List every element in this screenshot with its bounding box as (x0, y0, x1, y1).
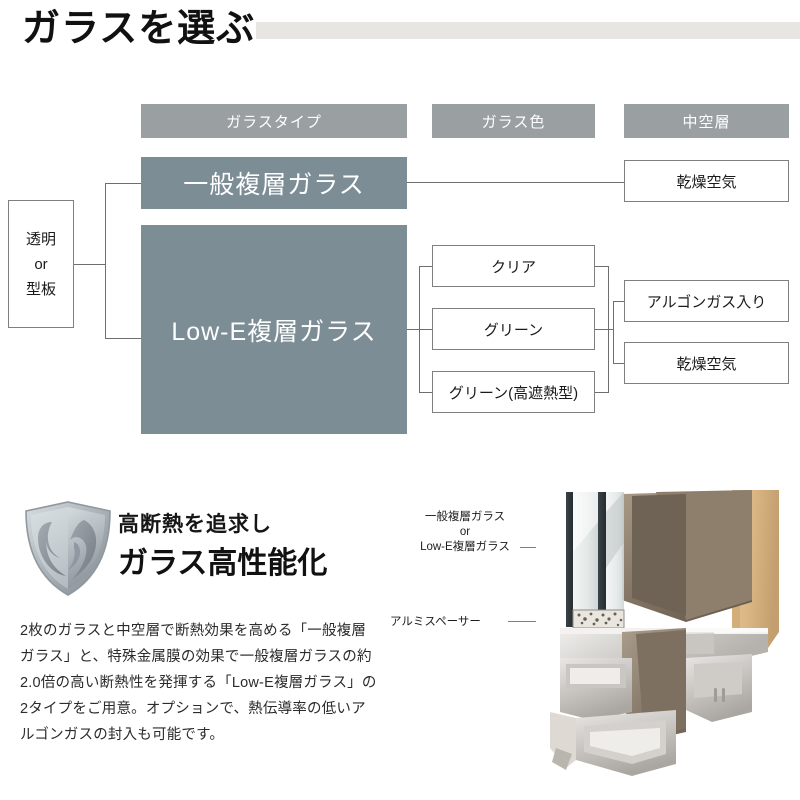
page-header: ガラスを選ぶ (0, 0, 800, 70)
column-header-glass-color: ガラス色 (432, 104, 595, 138)
root-label-line-3: 型板 (26, 277, 56, 302)
node-standard-double-glazing: 一般複層ガラス (141, 157, 407, 209)
callout-glass-line-1: 一般複層ガラス (390, 510, 540, 525)
edge-green-high-out (595, 392, 609, 393)
edge-green-out (595, 329, 609, 330)
node-color-clear: クリア (432, 245, 595, 287)
feature-heading: ガラス高性能化 (118, 538, 327, 582)
edge-root-vertical (105, 183, 106, 339)
node-color-green: グリーン (432, 308, 595, 350)
callout-glass-line-3: Low-E複層ガラス (390, 540, 540, 555)
root-label-line-1: 透明 (26, 227, 56, 252)
feature-body-text: 2枚のガラスと中空層で断熱効果を高める「一般複層ガラス」と、特殊金属膜の効果で一… (20, 618, 380, 748)
node-lowe-double-glazing: Low-E複層ガラス (141, 225, 407, 434)
edge-to-argon (613, 301, 624, 302)
edge-clear-out (595, 266, 609, 267)
root-label-line-2: or (34, 252, 47, 277)
node-dry-air-bottom: 乾燥空気 (624, 342, 789, 384)
edge-to-clear (419, 266, 433, 267)
edge-root-stem (74, 264, 106, 265)
edge-root-to-lowe (105, 338, 142, 339)
column-header-glass-type: ガラスタイプ (141, 104, 407, 138)
callout-glass-line-2: or (390, 525, 540, 540)
edge-to-dry-air-bottom (613, 363, 624, 364)
title-accent-bar (256, 22, 800, 39)
column-header-air-layer: 中空層 (624, 104, 789, 138)
node-root-glass-surface: 透明 or 型板 (8, 200, 74, 328)
node-argon-gas: アルゴンガス入り (624, 280, 789, 322)
glass-selection-flowchart: ガラスタイプ ガラス色 中空層 透明 or 型板 一般複層ガラス Low-E複層… (0, 90, 800, 445)
edge-to-green-high (419, 392, 433, 393)
window-sash-cross-section-image (536, 482, 800, 788)
node-dry-air-top: 乾燥空気 (624, 160, 789, 202)
edge-ippan-to-dry-air (407, 182, 624, 183)
callout-glass-type: 一般複層ガラス or Low-E複層ガラス (390, 510, 540, 555)
edge-gap-split-vertical (613, 301, 614, 363)
edge-to-green (419, 329, 433, 330)
feature-subheading: 高断熱を追求し (118, 508, 272, 538)
callout-aluminium-spacer: アルミスペーサー (390, 615, 518, 630)
page-root: ガラスを選ぶ ガラスタイプ ガラス色 中空層 透明 or 型板 一般複層ガラス … (0, 0, 800, 800)
shield-emblem-icon (22, 500, 114, 598)
page-title: ガラスを選ぶ (22, 6, 255, 52)
feature-section: 高断熱を追求し ガラス高性能化 2枚のガラスと中空層で断熱効果を高める「一般複層… (0, 470, 800, 800)
node-color-green-high: グリーン(高遮熱型) (432, 371, 595, 413)
edge-root-to-ippan (105, 183, 142, 184)
